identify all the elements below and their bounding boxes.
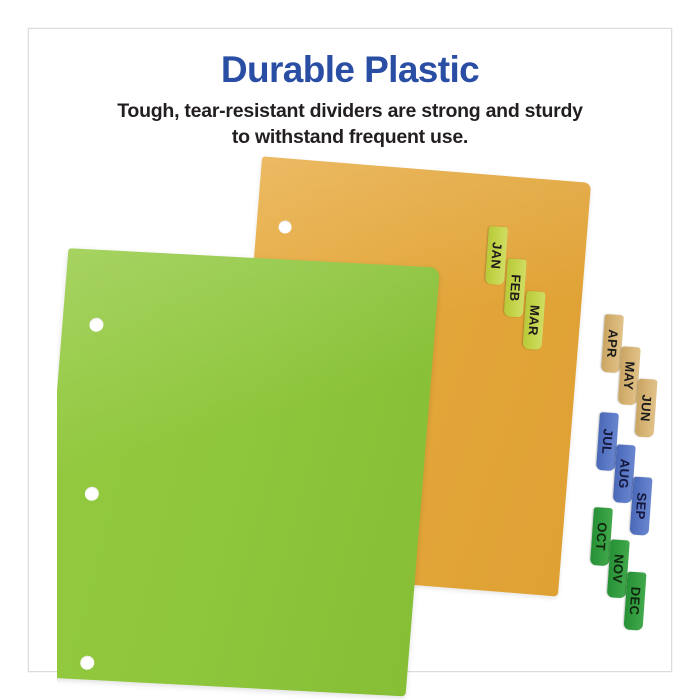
headline-block: Durable Plastic Tough, tear-resistant di… [29,51,671,151]
punch-hole [84,486,99,501]
image-frame: Durable Plastic Tough, tear-resistant di… [28,28,672,672]
page-subtitle: Tough, tear-resistant dividers are stron… [70,99,630,151]
punch-hole [80,655,95,670]
punch-hole [89,317,104,332]
tab-jun[interactable]: JUN [635,378,658,437]
divider-sheet-green [57,248,440,696]
tab-sep[interactable]: SEP [630,476,653,535]
tab-dec[interactable]: DEC [624,571,647,630]
page-subtitle-line-2: to withstand frequent use. [232,126,468,148]
tab-jan[interactable]: JAN [485,226,508,285]
page-subtitle-line-1: Tough, tear-resistant dividers are stron… [117,100,583,122]
tab-feb[interactable]: FEB [504,258,527,317]
product-image-canvas: Durable Plastic Tough, tear-resistant di… [0,0,700,700]
page-title: Durable Plastic [29,51,671,90]
tab-mar[interactable]: MAR [523,291,546,350]
punch-hole [278,220,292,234]
product-photo: JAN FEB MAR APR MAY JUN JUL AUG SEP OCT … [57,154,700,700]
